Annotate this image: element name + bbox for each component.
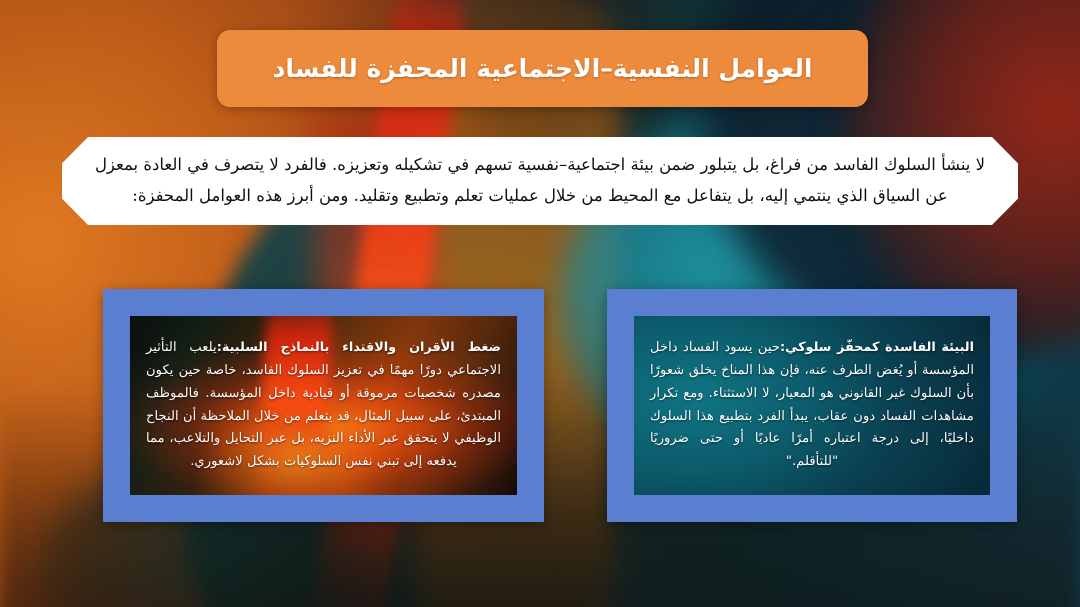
slide-canvas: العوامل النفسية–الاجتماعية المحفزة للفسا… [0, 0, 1080, 607]
panel-inner-fire-background: ضغط الأقران والاقتداء بالنماذج السلبية:ي… [130, 316, 517, 495]
content-panel-peer-pressure: ضغط الأقران والاقتداء بالنماذج السلبية:ي… [103, 289, 544, 522]
intro-callout-box: لا ينشأ السلوك الفاسد من فراغ، بل يتبلور… [62, 137, 1018, 225]
slide-title-banner: العوامل النفسية–الاجتماعية المحفزة للفسا… [217, 30, 868, 107]
panel-heading-peer-pressure: ضغط الأقران والاقتداء بالنماذج السلبية [222, 340, 501, 355]
panel-inner-teal-background: البيئة الفاسدة كمحفّز سلوكي:حين يسود الف… [634, 316, 990, 495]
panel-body-corrupt-environment: حين يسود الفساد داخل المؤسسة أو يُغض الط… [650, 340, 974, 469]
panel-text-corrupt-environment: البيئة الفاسدة كمحفّز سلوكي:حين يسود الف… [650, 337, 974, 473]
content-panel-corrupt-environment: البيئة الفاسدة كمحفّز سلوكي:حين يسود الف… [607, 289, 1017, 522]
panel-body-peer-pressure: يلعب التأثير الاجتماعي دورًا مهمًا في تع… [146, 340, 501, 469]
intro-callout-text: لا ينشأ السلوك الفاسد من فراغ، بل يتبلور… [62, 150, 1018, 211]
panel-heading-corrupt-environment: البيئة الفاسدة كمحفّز سلوكي [785, 340, 974, 355]
slide-title-text: العوامل النفسية–الاجتماعية المحفزة للفسا… [255, 54, 831, 83]
panel-text-peer-pressure: ضغط الأقران والاقتداء بالنماذج السلبية:ي… [146, 337, 501, 473]
